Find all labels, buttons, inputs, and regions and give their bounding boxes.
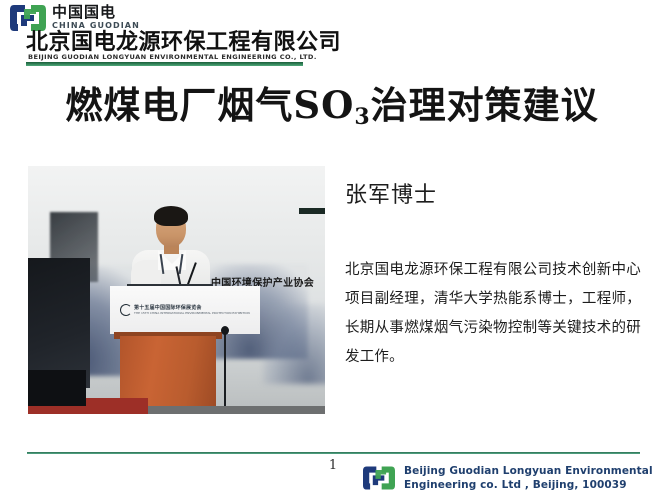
formula-main: SO — [293, 83, 354, 127]
photo-foreground-shadow — [28, 370, 86, 406]
page-number: 1 — [322, 458, 344, 473]
photo-person-hair — [154, 206, 188, 226]
photo-ink-mountain-right — [263, 304, 325, 384]
page-title: 燃煤电厂烟气SO3治理对策建议 — [0, 82, 664, 134]
footer-company-address: Beijing Guodian Longyuan Environmental E… — [404, 464, 653, 492]
photo-dark-bar — [299, 208, 325, 214]
header-divider — [26, 62, 303, 66]
photo-exhibition-title: 第十五届中国国际环保展览会 — [134, 304, 202, 311]
photo-exhibition-subtitle: THE 15TH CHINA INTERNATIONAL ENVIRONMENT… — [134, 311, 250, 315]
footer-line-1: Beijing Guodian Longyuan Environmental — [404, 465, 653, 477]
title-formula: SO3 — [293, 83, 370, 127]
formula-subscript: 3 — [354, 104, 370, 130]
brand-name-en: CHINA GUODIAN — [52, 21, 140, 30]
brand-name-cn: 中国国电 — [52, 4, 116, 20]
photo-dark-foreground — [28, 258, 90, 388]
guodian-logo-icon — [10, 3, 46, 33]
title-part-before: 燃煤电厂烟气 — [65, 83, 293, 127]
photo-mic-stand-head — [221, 326, 229, 335]
slide-root: 中国国电 CHINA GUODIAN 北京国电龙源环保工程有限公司 BEIJIN… — [0, 0, 664, 502]
company-name-en: BEIJING GUODIAN LONGYUAN ENVIRONMENTAL E… — [28, 53, 317, 61]
speaker-bio: 北京国电龙源环保工程有限公司技术创新中心项目副经理，清华大学热能系博士，工程师，… — [345, 256, 641, 372]
company-name-cn: 北京国电龙源环保工程有限公司 — [26, 31, 341, 55]
footer-line-2: Engineering co. Ltd , Beijing, 100039 — [404, 478, 653, 492]
guodian-logo-icon — [363, 464, 395, 492]
speaker-name: 张军博士 — [345, 182, 437, 210]
speaker-photo: 中国环境保护产业协会 第十五届中国国际环保展览会 THE 15TH CHINA … — [28, 166, 325, 414]
footer-divider — [27, 452, 640, 454]
photo-mic-stand — [224, 330, 226, 408]
photo-exhibition-logo-icon — [120, 304, 132, 316]
title-part-after: 治理对策建议 — [371, 83, 599, 127]
slide-header: 中国国电 CHINA GUODIAN 北京国电龙源环保工程有限公司 BEIJIN… — [0, 0, 664, 70]
